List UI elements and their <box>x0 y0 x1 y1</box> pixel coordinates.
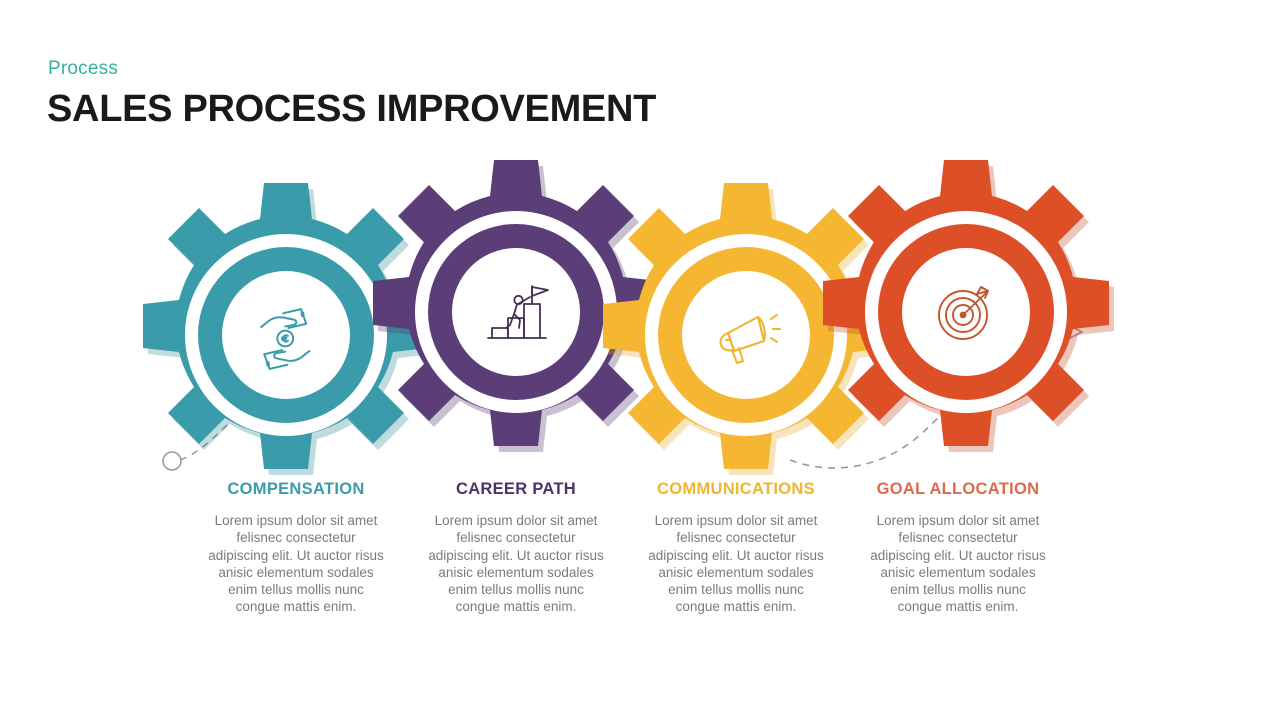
step-description: Lorem ipsum dolor sit amet felisnec cons… <box>428 512 604 616</box>
step-description: Lorem ipsum dolor sit amet felisnec cons… <box>648 512 824 616</box>
step-card-goal-allocation: GOAL ALLOCATION Lorem ipsum dolor sit am… <box>848 480 1068 680</box>
connector-start-node <box>163 452 181 470</box>
caption-row: COMPENSATION Lorem ipsum dolor sit amet … <box>0 480 1280 680</box>
slide-canvas: Process SALES PROCESS IMPROVEMENT <box>0 0 1280 720</box>
gear-icon-disc <box>452 248 580 376</box>
step-card-career-path: CAREER PATH Lorem ipsum dolor sit amet f… <box>406 480 626 680</box>
gear-goal-allocation[interactable] <box>823 160 1114 452</box>
step-title: COMPENSATION <box>186 480 406 498</box>
slide-eyebrow: Process <box>48 58 118 80</box>
step-title: GOAL ALLOCATION <box>848 480 1068 498</box>
step-description: Lorem ipsum dolor sit amet felisnec cons… <box>870 512 1046 616</box>
step-title: COMMUNICATIONS <box>626 480 846 498</box>
gear-diagram <box>0 150 1280 480</box>
step-title: CAREER PATH <box>406 480 626 498</box>
gear-icon-disc <box>682 271 810 399</box>
step-card-compensation: COMPENSATION Lorem ipsum dolor sit amet … <box>186 480 406 680</box>
step-description: Lorem ipsum dolor sit amet felisnec cons… <box>208 512 384 616</box>
step-card-communications: COMMUNICATIONS Lorem ipsum dolor sit ame… <box>626 480 846 680</box>
page-title: SALES PROCESS IMPROVEMENT <box>47 88 656 131</box>
